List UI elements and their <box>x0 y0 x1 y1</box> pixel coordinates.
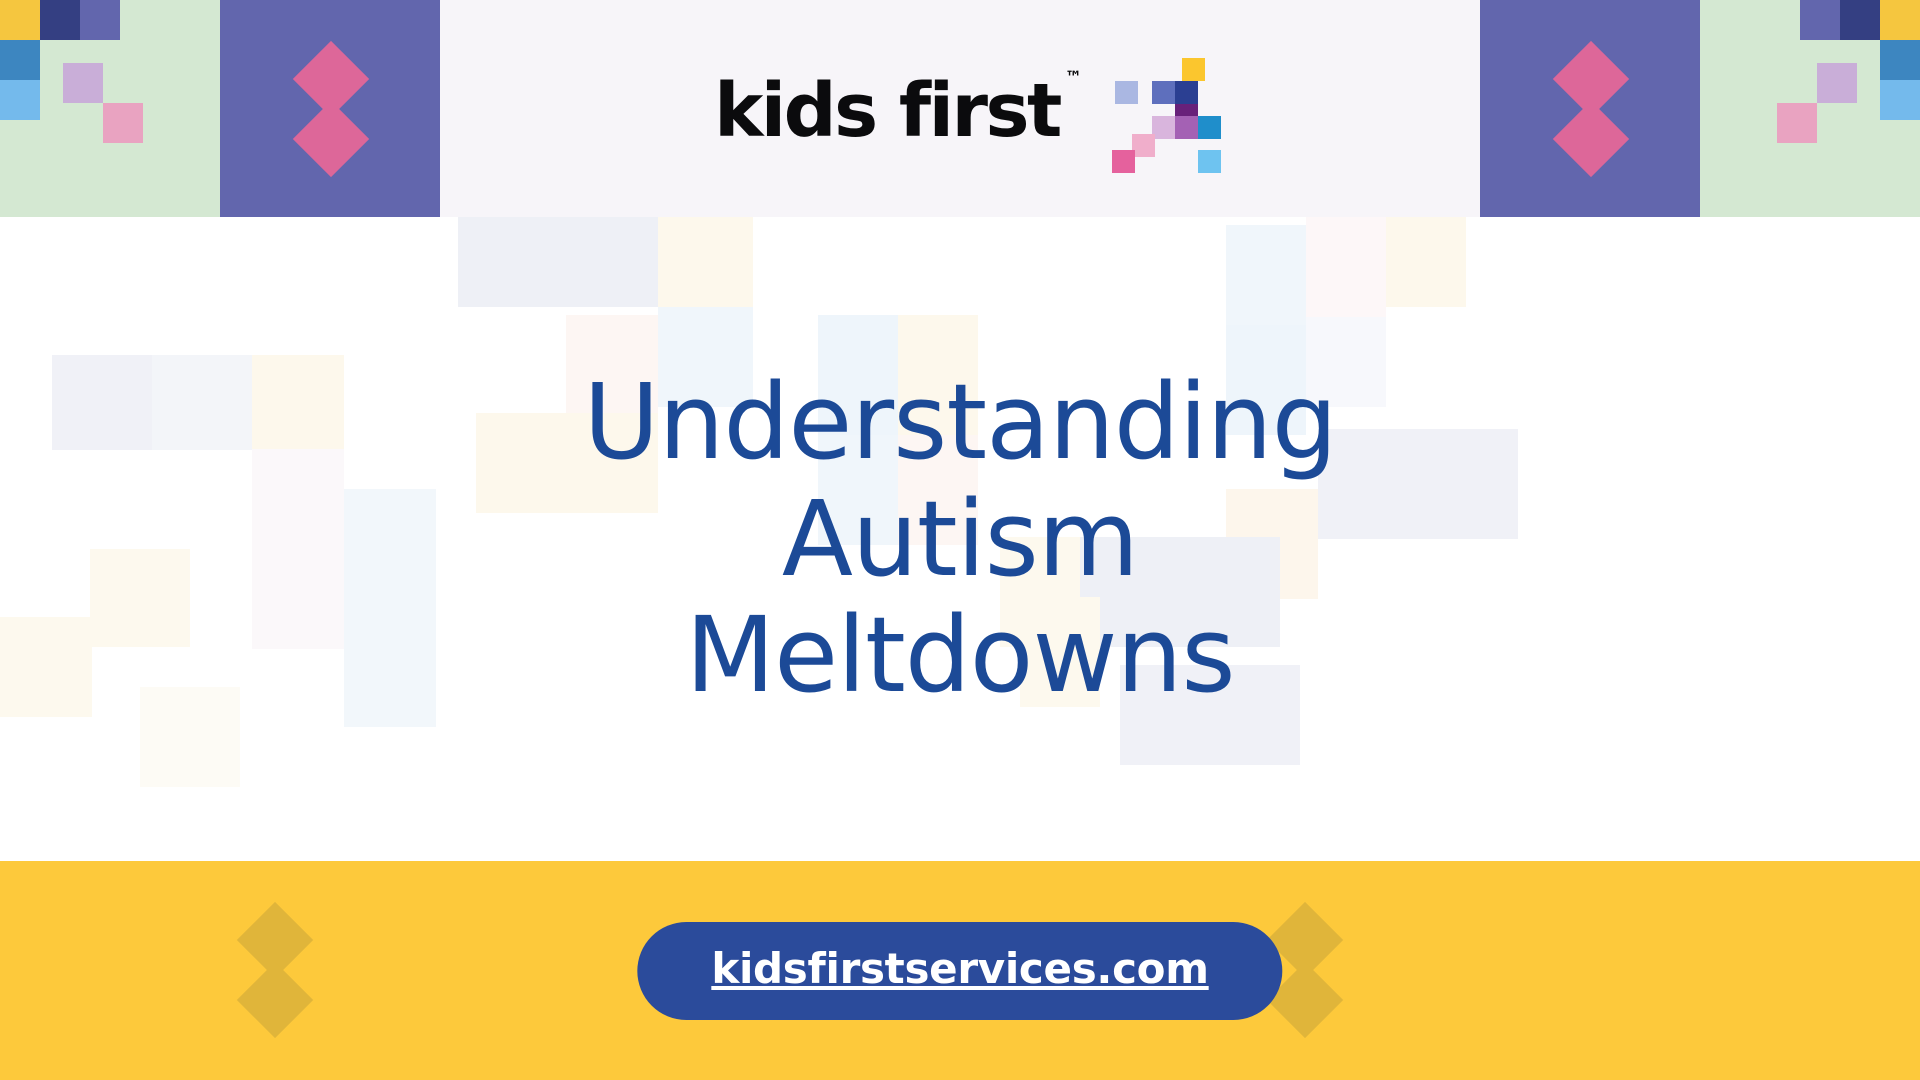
pixel-mark-tile-2 <box>1152 81 1175 104</box>
kids-first-pixel-mark-icon <box>1102 58 1206 162</box>
pixel-mark-tile-6 <box>1175 116 1198 139</box>
footer-diamond-left-icon <box>235 905 315 1035</box>
slide-body: Understanding Autism Meltdowns <box>0 217 1920 861</box>
pixel-mark-tile-7 <box>1198 116 1221 139</box>
logo-wordmark-text: kids first <box>714 68 1060 154</box>
pixel-mark-tile-8 <box>1132 134 1155 157</box>
pixel-mark-tile-9 <box>1112 150 1135 173</box>
pixel-mark-tile-0 <box>1182 58 1205 81</box>
brand-logo: kids first™ <box>0 0 1920 217</box>
pixel-mark-tile-1 <box>1115 81 1138 104</box>
pixel-mark-tile-3 <box>1175 81 1198 104</box>
trademark-icon: ™ <box>1065 70 1082 87</box>
header-band: kids first™ <box>0 0 1920 217</box>
slide-canvas: kids first™ Understanding Autism Meltdow… <box>0 0 1920 1080</box>
pixel-mark-tile-10 <box>1198 150 1221 173</box>
logo-wordmark: kids first™ <box>714 74 1060 148</box>
page-title-line-2: Meltdowns <box>685 594 1234 716</box>
page-title: Understanding Autism Meltdowns <box>400 364 1520 713</box>
website-url-button[interactable]: kidsfirstservices.com <box>637 922 1282 1020</box>
pixel-mark-tile-5 <box>1152 116 1175 139</box>
page-title-line-1: Understanding Autism <box>583 361 1336 599</box>
title-block: Understanding Autism Meltdowns <box>0 217 1920 861</box>
footer-band: kidsfirstservices.com <box>0 861 1920 1080</box>
